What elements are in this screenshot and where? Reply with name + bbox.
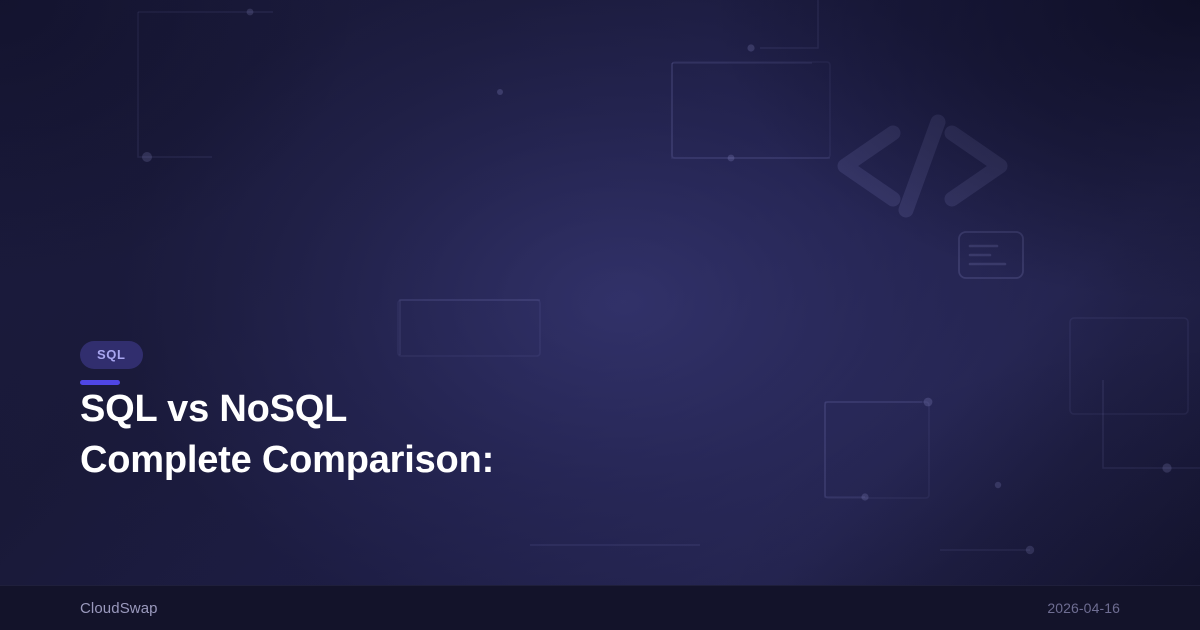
card-content: SQL SQL vs NoSQL Complete Comparison: Da…: [80, 341, 640, 486]
page-title: SQL vs NoSQL Complete Comparison: Datab…: [80, 384, 520, 486]
category-badge[interactable]: SQL: [80, 341, 143, 369]
publish-date: 2026-04-16: [1047, 600, 1120, 616]
brand-name: CloudSwap: [80, 600, 158, 617]
document-card-icon: [959, 232, 1023, 278]
card-footer: CloudSwap 2026-04-16: [0, 585, 1200, 630]
og-card: SQL SQL vs NoSQL Complete Comparison: Da…: [0, 0, 1200, 630]
background-decoration: [0, 0, 1200, 630]
vignette-overlay: [0, 0, 1200, 630]
code-glyph-icon: [845, 122, 1000, 210]
